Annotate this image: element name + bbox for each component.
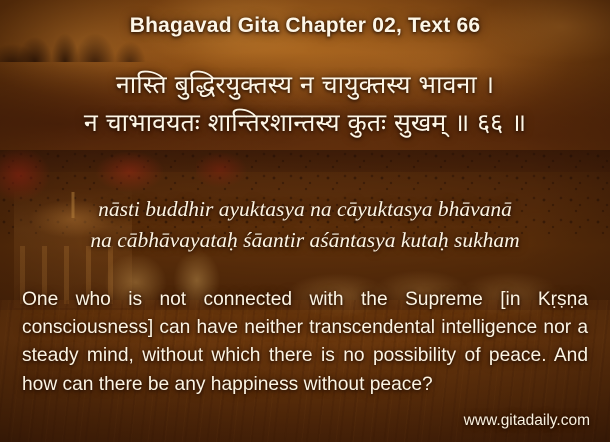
verse-transliteration-line-2: na cābhāvayataḥ śāantir aśāntasya kutaḥ … xyxy=(0,225,610,256)
verse-translation: One who is not connected with the Suprem… xyxy=(22,286,588,399)
gita-verse-card: Bhagavad Gita Chapter 02, Text 66 नास्ति… xyxy=(0,0,610,442)
verse-transliteration: nāsti buddhir ayuktasya na cāyuktasya bh… xyxy=(0,194,610,257)
verse-transliteration-line-1: nāsti buddhir ayuktasya na cāyuktasya bh… xyxy=(0,194,610,225)
page-title: Bhagavad Gita Chapter 02, Text 66 xyxy=(0,14,610,38)
verse-devanagari-line-2: न चाभावयतः शान्तिरशान्तस्य कुतः सुखम् ॥ … xyxy=(0,104,610,142)
card-content: Bhagavad Gita Chapter 02, Text 66 नास्ति… xyxy=(0,0,610,442)
verse-devanagari: नास्ति बुद्धिरयुक्तस्य न चायुक्तस्य भावन… xyxy=(0,66,610,142)
verse-devanagari-line-1: नास्ति बुद्धिरयुक्तस्य न चायुक्तस्य भावन… xyxy=(0,66,610,104)
website-url: www.gitadaily.com xyxy=(464,412,590,430)
